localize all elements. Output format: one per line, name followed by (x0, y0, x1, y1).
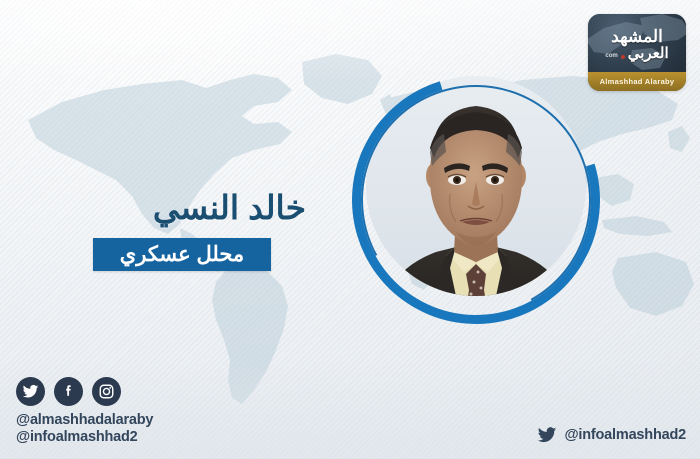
broadcast-guest-card: المشهد com العربي Almashhad Alaraby (0, 0, 700, 459)
instagram-icon[interactable] (92, 377, 121, 406)
twitter-icon (537, 425, 557, 445)
logo-latin-name: Almashhad Alaraby (600, 77, 675, 86)
logo-arabic-line1: المشهد (611, 28, 663, 45)
social-block: @almashhadalaraby @infoalmashhad2 (16, 377, 153, 447)
channel-logo[interactable]: المشهد com العربي Almashhad Alaraby (588, 14, 686, 91)
logo-dot-icon (621, 55, 625, 59)
social-handle-primary[interactable]: @almashhadalaraby (16, 412, 153, 430)
footer-twitter-handle: @infoalmashhad2 (564, 427, 686, 443)
guest-name: خالد النسي (0, 188, 318, 227)
logo-arabic-line2: العربي (628, 46, 669, 61)
social-icon-row (16, 377, 153, 406)
logo-com-text: com (605, 53, 617, 61)
footer-twitter-block[interactable]: @infoalmashhad2 (537, 425, 686, 445)
logo-bottom-band: Almashhad Alaraby (588, 72, 686, 91)
social-handle-secondary[interactable]: @infoalmashhad2 (16, 429, 153, 447)
logo-second-row: com العربي (605, 46, 668, 61)
portrait-outer-ring (308, 32, 643, 367)
twitter-icon[interactable] (16, 377, 45, 406)
facebook-icon[interactable] (54, 377, 83, 406)
logo-top-panel: المشهد com العربي (588, 14, 686, 72)
guest-title-label: محلل عسكري (120, 244, 244, 265)
guest-title-banner: محلل عسكري (93, 238, 271, 271)
portrait-frame (352, 76, 600, 324)
